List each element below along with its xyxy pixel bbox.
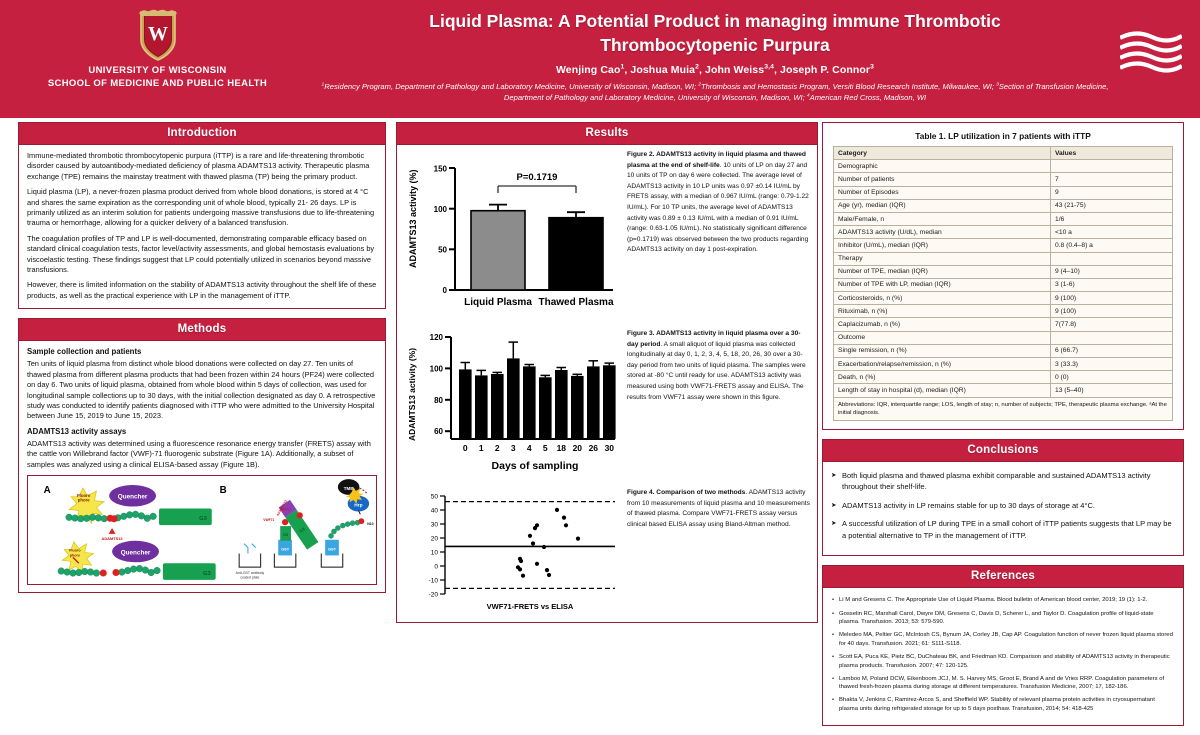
intro-paragraph: The coagulation profiles of TP and LP is…: [27, 234, 377, 276]
svg-text:W: W: [148, 23, 168, 45]
svg-text:30: 30: [431, 522, 439, 529]
conclusions-panel: Conclusions Both liquid plasma and thawe…: [822, 439, 1184, 557]
methods-subheading-samples: Sample collection and patients: [27, 347, 377, 356]
table1-footnote: Abbreviations: IQR, interquartile range;…: [833, 398, 1173, 421]
table1-cell-value: 0 (0): [1050, 371, 1172, 384]
table1-cell-label: Male/Female, n: [834, 212, 1051, 225]
poster-root: W UNIVERSITY OF WISCONSIN SCHOOL OF MEDI…: [0, 0, 1200, 675]
methods-paragraph-assays: ADAMTS13 activity was determined using a…: [27, 439, 377, 470]
svg-text:0: 0: [434, 564, 438, 571]
middle-column: Results ADAMTS13 activity (%): [396, 122, 818, 632]
figure3-x-axis-label: Days of sampling: [492, 460, 579, 472]
intro-paragraph: However, there is limited information on…: [27, 280, 377, 301]
table1-cell-value: 13 (5–40): [1050, 384, 1172, 397]
methods-body: Sample collection and patients Ten units…: [19, 341, 385, 592]
university-line: UNIVERSITY OF WISCONSIN: [15, 65, 300, 78]
svg-text:VWF71: VWF71: [263, 518, 274, 522]
svg-text:0: 0: [463, 443, 468, 453]
table1-panel: Table 1. LP utilization in 7 patients wi…: [822, 122, 1184, 430]
svg-text:phore: phore: [78, 498, 91, 503]
figure4-caption: Figure 4. Comparison of two methods. ADA…: [621, 488, 811, 530]
title-line-2: Thrombocytopenic Purpura: [300, 33, 1130, 57]
svg-text:G3: G3: [203, 571, 212, 577]
figure4-x-axis-label: VWF71-FRETS vs ELISA: [487, 602, 574, 611]
figure2-chart: ADAMTS13 activity (%) 0 50: [403, 150, 621, 318]
reference-item: Gosselin RC, Marshall Carol, Dwyre DM, G…: [831, 610, 1175, 627]
figure2-bar-liquid-plasma: [471, 211, 525, 290]
author-list: Wenjing Cao1, Joshua Muia2, John Weiss3,…: [300, 64, 1130, 76]
reference-item: Li M and Gresens C. The Appropriate Use …: [831, 596, 1175, 605]
wave-stripes-icon: [1120, 30, 1182, 78]
svg-text:3: 3: [511, 443, 516, 453]
left-column: Introduction Immune-mediated thrombotic …: [18, 122, 386, 602]
table-row: Number of patients7: [834, 173, 1173, 186]
figure2-xtick-liquid: Liquid Plasma: [464, 297, 532, 308]
figure1-panel-b-label: B: [220, 485, 227, 496]
table1-cell-value: 1/6: [1050, 212, 1172, 225]
table1-cell-value: [1050, 331, 1172, 344]
figure4-y-tick-labels: 50 40 30 20 10 0 -10 -20: [429, 494, 439, 599]
svg-text:coated plate: coated plate: [240, 575, 259, 579]
page-title: Liquid Plasma: A Potential Product in ma…: [300, 9, 1130, 57]
table1-cell-label: Caplacizumab, n (%): [834, 318, 1051, 331]
figure2-caption: Figure 2. ADAMTS13 activity in liquid pl…: [621, 150, 811, 256]
table1-cell-label: Age (yr), median (IQR): [834, 199, 1051, 212]
figure4-bland-altman-plot: 50 40 30 20 10 0 -10 -20: [403, 488, 621, 616]
table1-cell-label: Number of TPE with LP, median (IQR): [834, 278, 1051, 291]
svg-text:10: 10: [431, 550, 439, 557]
svg-text:2: 2: [495, 443, 500, 453]
figure3-caption: Figure 3. ADAMTS13 activity in liquid pl…: [621, 329, 811, 403]
results-panel: Results ADAMTS13 activity (%): [396, 122, 818, 623]
methods-panel: Methods Sample collection and patients T…: [18, 318, 386, 593]
table1-cell-label: Number of TPE, median (IQR): [834, 265, 1051, 278]
svg-text:Fluoro: Fluoro: [69, 548, 81, 552]
table1-cell-label: Number of patients: [834, 173, 1051, 186]
introduction-heading: Introduction: [19, 123, 385, 145]
conclusion-item: ADAMTS13 activity in LP remains stable f…: [831, 500, 1175, 512]
table-row: Number of TPE with LP, median (IQR)3 (1-…: [834, 278, 1173, 291]
svg-text:120: 120: [430, 333, 444, 342]
table1-col-category: Category: [834, 147, 1051, 160]
table-row: Male/Female, n1/6: [834, 212, 1173, 225]
table1-cell-value: [1050, 160, 1172, 173]
svg-text:G3: G3: [199, 516, 208, 522]
table1-cell-value: 9 (4–10): [1050, 265, 1172, 278]
svg-text:Quencher: Quencher: [121, 549, 151, 556]
table1-cell-value: 43 (21-75): [1050, 199, 1172, 212]
figure2-bar-thawed-plasma: [549, 218, 603, 290]
table-row: Age (yr), median (IQR)43 (21-75): [834, 199, 1173, 212]
table-row: Demographic: [834, 160, 1173, 173]
table1-cell-value: 7: [1050, 173, 1172, 186]
figure2-y-axis-label: ADAMTS13 activity (%): [408, 169, 418, 268]
table-row: Number of TPE, median (IQR)9 (4–10): [834, 265, 1173, 278]
figure2-caption-rest: . 10 units of LP on day 27 and 10 units …: [627, 162, 809, 254]
svg-text:Quencher: Quencher: [118, 494, 148, 501]
table-row: ADAMTS13 activity (U/dL), median<10 a: [834, 226, 1173, 239]
table-row: Death, n (%)0 (0): [834, 371, 1173, 384]
conclusions-heading: Conclusions: [823, 440, 1183, 462]
svg-text:26: 26: [589, 443, 599, 453]
intro-paragraph: Immune-mediated thrombotic thrombocytope…: [27, 151, 377, 182]
svg-text:40: 40: [431, 508, 439, 515]
table1-cell-label: Outcome: [834, 331, 1051, 344]
table1-cell-value: 3 (1-6): [1050, 278, 1172, 291]
frets-elisa-schematic: A Fluoro phore Quencher: [28, 476, 376, 584]
svg-text:-20: -20: [429, 592, 439, 599]
figure1-diagram: A Fluoro phore Quencher: [27, 475, 377, 585]
svg-text:GST: GST: [328, 546, 337, 551]
adamts13-label: ADAMTS13: [102, 536, 124, 541]
table1-cell-label: Rituximab, n (%): [834, 305, 1051, 318]
svg-text:Anti-GST antibody: Anti-GST antibody: [236, 571, 265, 575]
conclusion-item: Both liquid plasma and thawed plasma exh…: [831, 470, 1175, 493]
reference-item: Meledeo MA, Peltier GC, McIntosh CS, Byn…: [831, 631, 1175, 648]
table1-cell-value: 0.8 (0.4–8) a: [1050, 239, 1172, 252]
svg-text:GST: GST: [281, 546, 290, 551]
introduction-body: Immune-mediated thrombotic thrombocytope…: [19, 145, 385, 308]
figure4-data-points: [516, 508, 580, 578]
figure3-chart: ADAMTS13 activity (%) 60 80 100: [403, 329, 621, 477]
table-row: Corticosteroids, n (%)9 (100): [834, 292, 1173, 305]
svg-text:G3: G3: [283, 532, 289, 537]
figure4-caption-bold: Figure 4. Comparison of two methods: [627, 489, 745, 496]
figure3-y-axis-label: ADAMTS13 activity (%): [407, 348, 417, 441]
methods-heading: Methods: [19, 319, 385, 341]
table1-cell-label: Single remission, n (%): [834, 344, 1051, 357]
svg-text:4: 4: [527, 443, 532, 453]
table-row: Number of Episodes9: [834, 186, 1173, 199]
svg-text:5: 5: [543, 443, 548, 453]
svg-text:60: 60: [434, 427, 443, 436]
school-line: SCHOOL OF MEDICINE AND PUBLIC HEALTH: [15, 78, 300, 91]
table1-col-values: Values: [1050, 147, 1172, 160]
table-row: Outcome: [834, 331, 1173, 344]
table1-cell-label: Corticosteroids, n (%): [834, 292, 1051, 305]
svg-text:50: 50: [431, 494, 439, 501]
table1-cell-label: Length of stay in hospital (d), median (…: [834, 384, 1051, 397]
table1-cell-value: [1050, 252, 1172, 265]
svg-text:Hrp: Hrp: [354, 502, 362, 508]
methods-paragraph-samples: Ten units of liquid plasma from distinct…: [27, 359, 377, 421]
svg-text:18: 18: [557, 443, 567, 453]
svg-text:1: 1: [479, 443, 484, 453]
table1-cell-value: 9 (100): [1050, 292, 1172, 305]
results-heading: Results: [397, 123, 817, 145]
affiliations: 1Residency Program, Department of Pathol…: [300, 81, 1130, 103]
table1-cell-label: Therapy: [834, 252, 1051, 265]
conclusions-body: Both liquid plasma and thawed plasma exh…: [823, 462, 1183, 556]
table-row: Single remission, n (%)6 (66.7): [834, 344, 1173, 357]
table-header-row: Category Values: [834, 147, 1173, 160]
conclusion-item: A successful utilization of LP during TP…: [831, 518, 1175, 541]
references-heading: References: [823, 566, 1183, 588]
intro-paragraph: Liquid plasma (LP), a never-frozen plasm…: [27, 187, 377, 229]
table1-cell-value: 9 (100): [1050, 305, 1172, 318]
svg-text:100: 100: [434, 205, 448, 214]
table-row: Therapy: [834, 252, 1173, 265]
svg-text:phore: phore: [70, 553, 80, 557]
table-row: Caplacizumab, n (%)7(77.8): [834, 318, 1173, 331]
figure2-pvalue-annotation: P=0.1719: [517, 172, 558, 183]
figure4-row: 50 40 30 20 10 0 -10 -20: [397, 483, 817, 622]
table1-cell-label: Demographic: [834, 160, 1051, 173]
reference-item: Scott EA, Puca KE, Pietz BC, DuChateau B…: [831, 653, 1175, 670]
table-row: Inhibitor (U/mL), median (IQR)0.8 (0.4–8…: [834, 239, 1173, 252]
introduction-panel: Introduction Immune-mediated thrombotic …: [18, 122, 386, 309]
svg-text:N10: N10: [367, 522, 373, 526]
reference-item: Lamboo M, Poland DCW, Eikenboom JCJ, M. …: [831, 675, 1175, 692]
svg-text:30: 30: [605, 443, 615, 453]
figure1-panel-a-label: A: [44, 485, 51, 496]
uw-crest-icon: W: [135, 6, 181, 62]
svg-text:100: 100: [430, 364, 444, 373]
table1-cell-value: 3 (33.3): [1050, 358, 1172, 371]
table1-cell-label: Exacerbation/relapse/remission, n (%): [834, 358, 1051, 371]
university-branding: W UNIVERSITY OF WISCONSIN SCHOOL OF MEDI…: [15, 6, 300, 90]
figure3-x-tick-labels: 0 1 2 3 4 5 18 20 26 30: [463, 443, 614, 453]
figure2-xtick-thawed: Thawed Plasma: [538, 297, 613, 308]
university-name: UNIVERSITY OF WISCONSIN SCHOOL OF MEDICI…: [15, 65, 300, 90]
figure2-bar-chart: ADAMTS13 activity (%) 0 50: [403, 150, 621, 318]
table1-cell-label: Number of Episodes: [834, 186, 1051, 199]
svg-text:0: 0: [443, 286, 448, 295]
table1-title: Table 1. LP utilization in 7 patients wi…: [833, 131, 1173, 141]
title-block: Liquid Plasma: A Potential Product in ma…: [300, 5, 1130, 103]
figure3-bar-chart: ADAMTS13 activity (%) 60 80 100: [403, 329, 621, 477]
references-body: Li M and Gresens C. The Appropriate Use …: [823, 588, 1183, 725]
table1-cell-label: Death, n (%): [834, 371, 1051, 384]
svg-text:80: 80: [434, 396, 443, 405]
title-line-1: Liquid Plasma: A Potential Product in ma…: [300, 9, 1130, 33]
table1-cell-label: Inhibitor (U/mL), median (IQR): [834, 239, 1051, 252]
reference-item: Bhakta V, Jenkins C, Ramirez-Arcos S, an…: [831, 696, 1175, 713]
svg-text:20: 20: [573, 443, 583, 453]
table-row: Length of stay in hospital (d), median (…: [834, 384, 1173, 397]
table-row: Rituximab, n (%)9 (100): [834, 305, 1173, 318]
table1-cell-value: <10 a: [1050, 226, 1172, 239]
table1-cell-value: 6 (66.7): [1050, 344, 1172, 357]
figure4-chart: 50 40 30 20 10 0 -10 -20: [403, 488, 621, 616]
methods-subheading-assays: ADAMTS13 activity assays: [27, 427, 377, 436]
table1-cell-label: ADAMTS13 activity (U/dL), median: [834, 226, 1051, 239]
svg-text:20: 20: [431, 536, 439, 543]
figure2-row: ADAMTS13 activity (%) 0 50: [397, 145, 817, 324]
figure3-row: ADAMTS13 activity (%) 60 80 100: [397, 324, 817, 483]
right-column: Table 1. LP utilization in 7 patients wi…: [822, 122, 1184, 735]
figure3-caption-rest: . A small aliquot of liquid plasma was c…: [627, 341, 806, 401]
svg-text:50: 50: [438, 246, 447, 255]
table1: Category Values Demographic Number of pa…: [833, 146, 1173, 398]
references-panel: References Li M and Gresens C. The Appro…: [822, 565, 1184, 726]
poster-header: W UNIVERSITY OF WISCONSIN SCHOOL OF MEDI…: [0, 0, 1200, 121]
table-row: Exacerbation/relapse/remission, n (%)3 (…: [834, 358, 1173, 371]
svg-text:-10: -10: [429, 578, 439, 585]
table1-cell-value: 7(77.8): [1050, 318, 1172, 331]
table1-cell-value: 9: [1050, 186, 1172, 199]
svg-text:150: 150: [434, 165, 448, 174]
